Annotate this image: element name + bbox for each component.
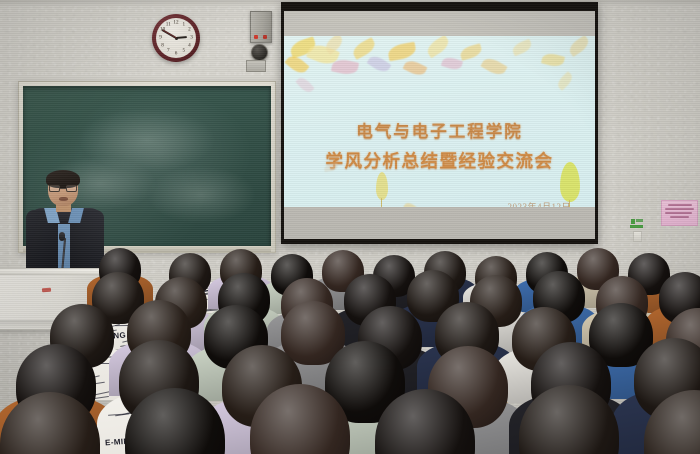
- slide-title-line1: 电气与电子工程学院: [284, 118, 595, 142]
- projection-screen: 电气与电子工程学院 学风分析总结暨经验交流会 2023年4月12日: [281, 2, 598, 244]
- leaf-icon: [567, 36, 592, 57]
- leaf-stem: [381, 198, 382, 207]
- screen-surround: 电气与电子工程学院 学风分析总结暨经验交流会 2023年4月12日: [284, 11, 595, 239]
- microphone-icon: [59, 232, 65, 241]
- clock-numeral: 8: [161, 43, 164, 48]
- power-led-icon: [254, 35, 258, 39]
- leaf-icon: [480, 55, 507, 78]
- leaf-icon: [555, 71, 575, 91]
- leaf-icon: [424, 36, 451, 58]
- wall-notice-poster: [661, 200, 698, 226]
- presenter-mouth: [59, 197, 68, 201]
- leaf-icon: [441, 55, 463, 72]
- notice-text-line: [670, 216, 689, 218]
- clock-numeral: 7: [167, 49, 170, 54]
- lecture-hall-photo: 121234567891011: [0, 0, 700, 454]
- clock-numeral: 5: [182, 49, 185, 54]
- wall-plate: [246, 60, 266, 72]
- leaf-icon: [295, 75, 314, 95]
- leaf-icon: [511, 39, 534, 57]
- volume-knob[interactable]: [251, 44, 268, 61]
- clock-numeral: 1: [182, 22, 185, 27]
- audience-group: E-MININGE-MININGE-MININGE-MININGE-MINING: [0, 246, 700, 454]
- clock-numeral: 12: [173, 20, 178, 25]
- leaf-icon: [541, 52, 565, 69]
- chalk-smear: [78, 108, 217, 172]
- clock-numeral: 3: [190, 35, 193, 40]
- clock-numeral: 6: [175, 51, 178, 56]
- projected-slide: 电气与电子工程学院 学风分析总结暨经验交流会 2023年4月12日: [284, 36, 595, 207]
- clock-numeral: 2: [188, 28, 191, 33]
- leaf-stem: [569, 200, 570, 207]
- chalk-smear: [147, 166, 256, 224]
- slide-date: 2023年4月12日: [507, 200, 571, 207]
- leaf-icon: [331, 57, 359, 76]
- clock-numeral: 9: [159, 35, 162, 40]
- clock-numeral: 4: [188, 43, 191, 48]
- leaf-icon: [387, 42, 417, 62]
- clock-numeral: 11: [166, 22, 171, 27]
- av-control-box[interactable]: [250, 11, 272, 43]
- glasses-icon: [49, 185, 77, 192]
- notice-text-line: [668, 204, 692, 206]
- notice-text-line: [665, 208, 694, 210]
- leaf-icon: [459, 43, 483, 61]
- wall-clock: 121234567891011: [152, 14, 200, 62]
- leaf-icon: [402, 58, 427, 78]
- notice-text-line: [665, 212, 692, 214]
- exit-sign-mount: [633, 231, 642, 242]
- leaf-icon: [376, 172, 388, 200]
- leaf-icon: [403, 201, 419, 207]
- status-led-icon: [263, 35, 267, 39]
